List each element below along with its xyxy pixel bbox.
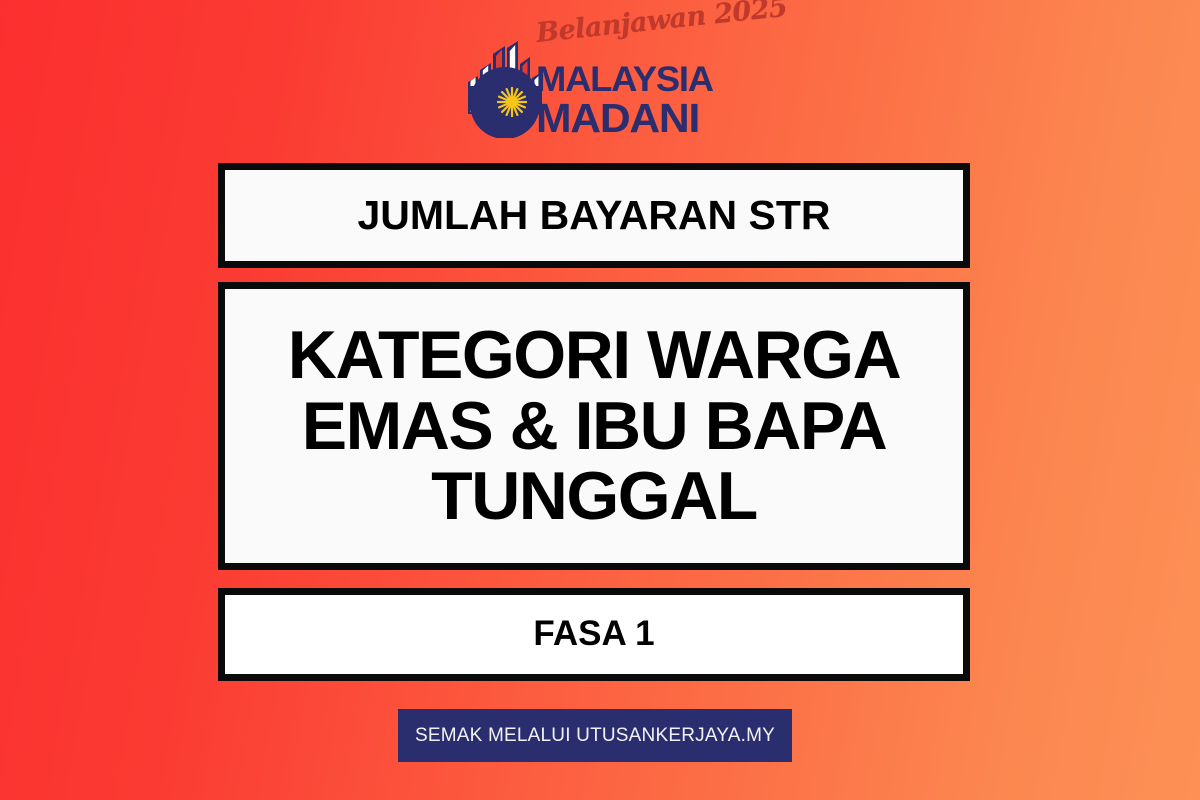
phase-text: FASA 1 (533, 616, 654, 652)
budget-year-script: Belanjawan 2025 (535, 0, 789, 49)
brand-line-malaysia: MALAYSIA (536, 62, 713, 97)
title-card: KATEGORI WARGA EMAS & IBU BAPA TUNGGAL (218, 282, 970, 570)
page-title: KATEGORI WARGA EMAS & IBU BAPA TUNGGAL (225, 320, 963, 532)
source-banner-text: SEMAK MELALUI UTUSANKERJAYA.MY (415, 725, 775, 747)
logo-wordmark: Belanjawan 2025 MALAYSIA MADANI (536, 16, 736, 138)
brand-line-madani: MADANI (536, 98, 699, 139)
subtitle-text: JUMLAH BAYARAN STR (357, 194, 830, 237)
poster-canvas: Belanjawan 2025 MALAYSIA MADANI JUMLAH B… (0, 0, 1200, 800)
malaysia-madani-logo-icon (466, 30, 544, 138)
malaysia-madani-logo: Belanjawan 2025 MALAYSIA MADANI (466, 16, 736, 138)
subtitle-card: JUMLAH BAYARAN STR (218, 163, 970, 268)
source-banner[interactable]: SEMAK MELALUI UTUSANKERJAYA.MY (398, 709, 792, 762)
phase-card: FASA 1 (218, 588, 970, 681)
